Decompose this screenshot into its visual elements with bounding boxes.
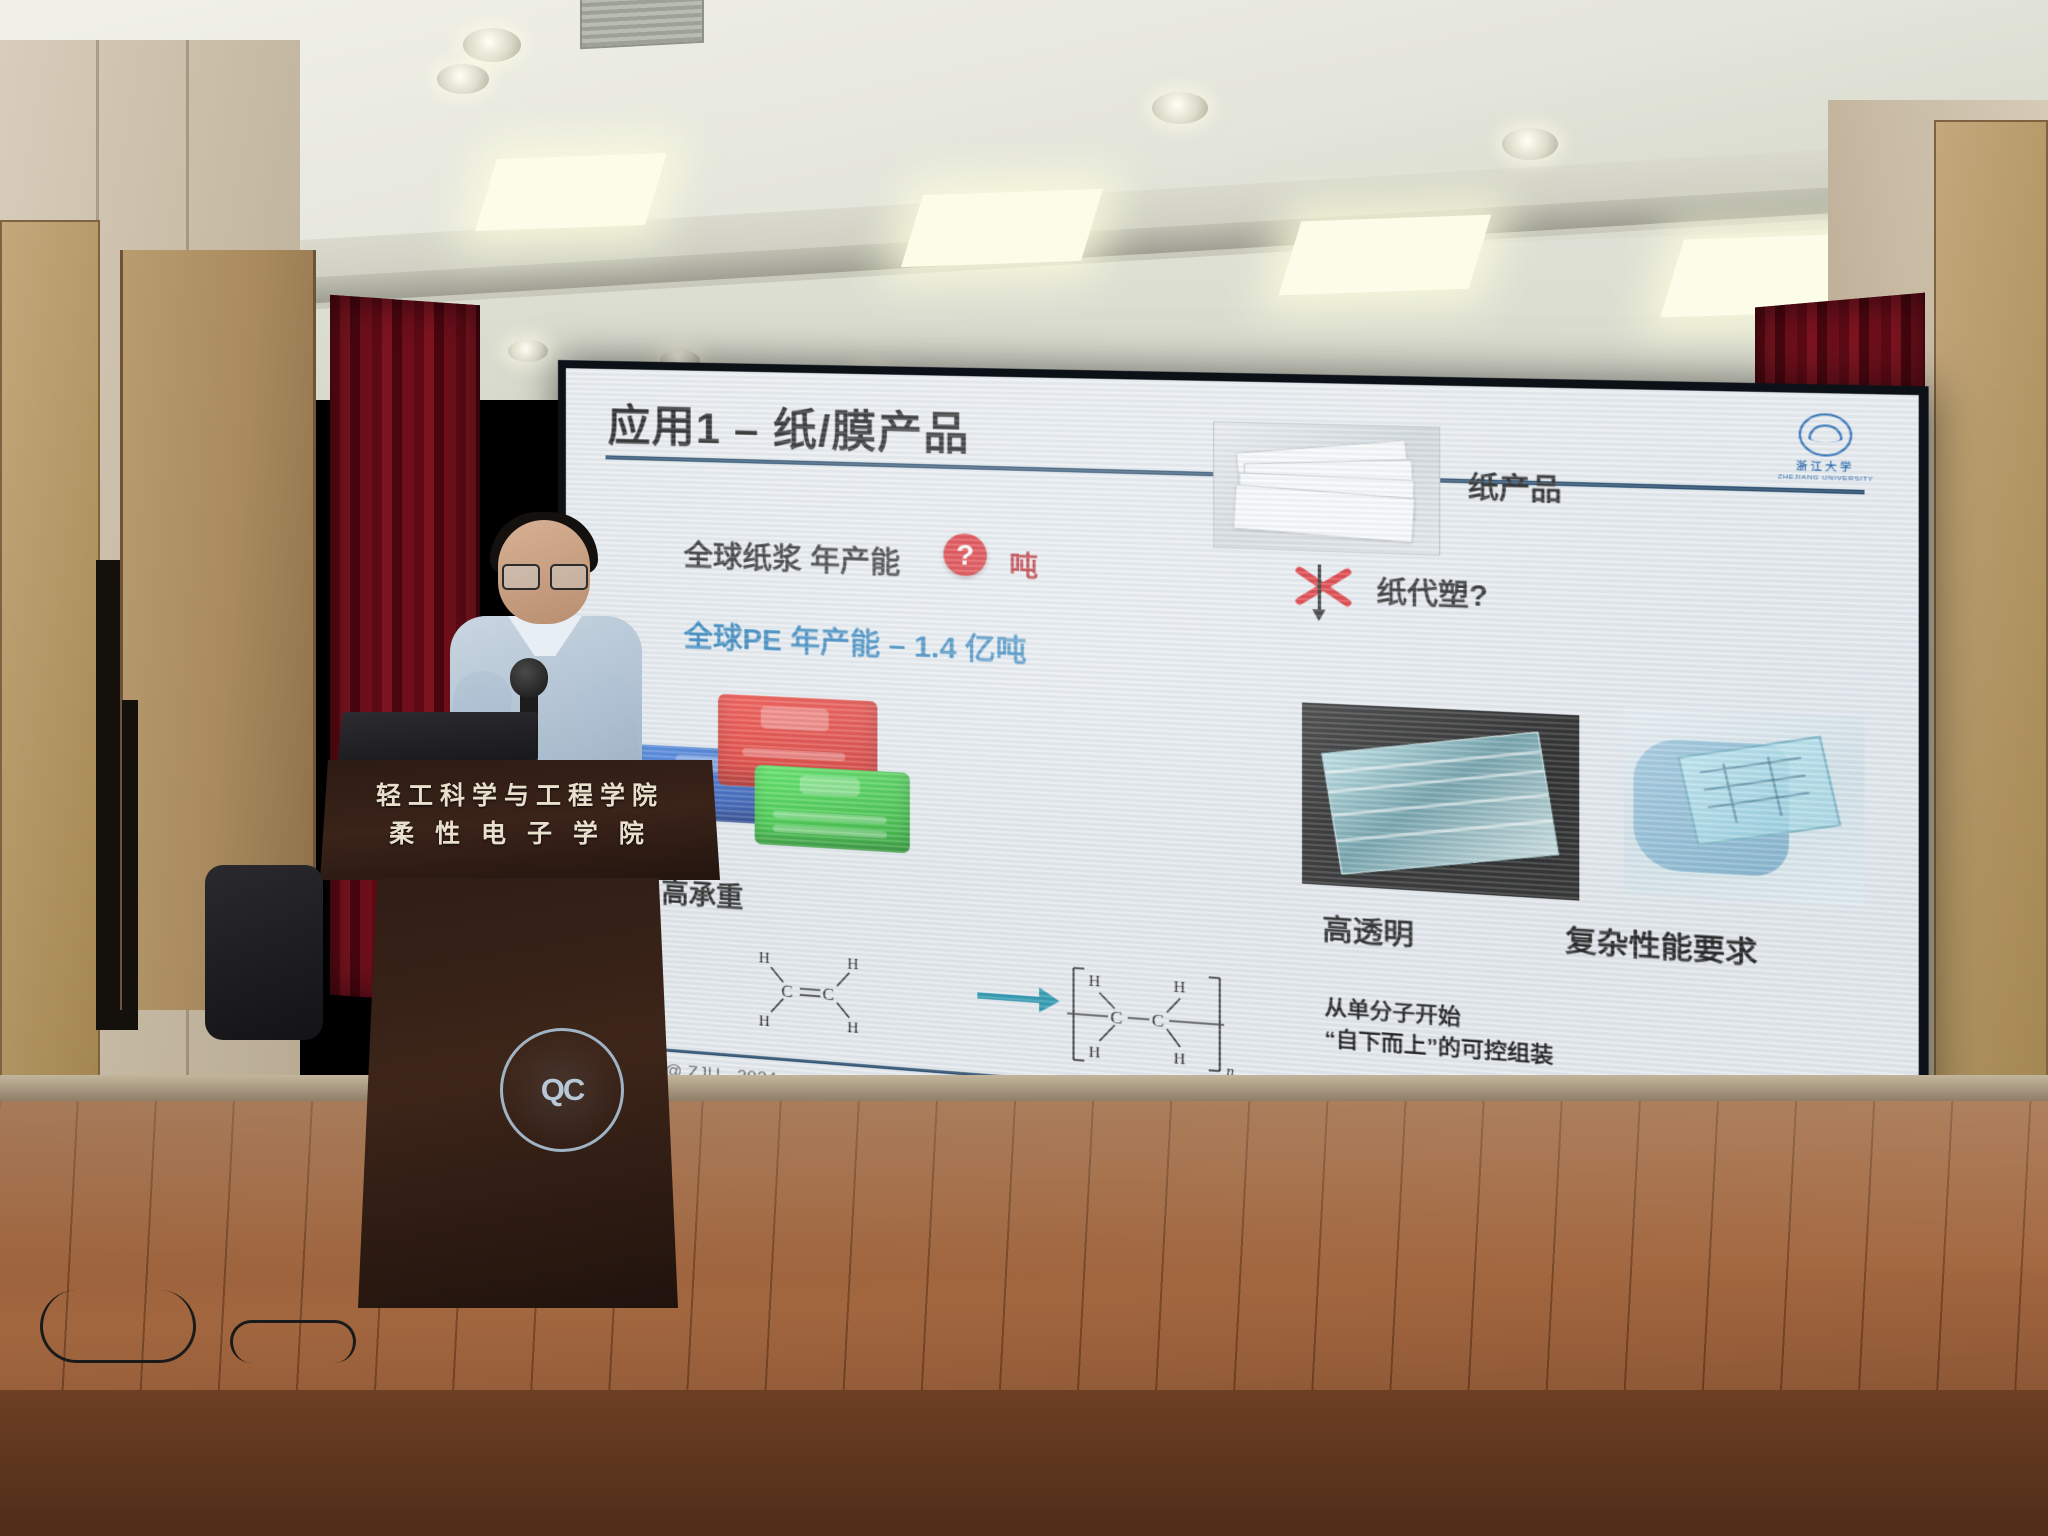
podium-inscription: 轻工科学与工程学院柔 性 电 子 学 院	[320, 778, 720, 853]
floor-reflection	[0, 1075, 2048, 1275]
transparent-film-photo	[1302, 702, 1579, 900]
circuit-trace	[1767, 757, 1783, 817]
logo-english-name: ZHEJIANG UNIVERSITY	[1778, 474, 1874, 483]
glasses-lens	[550, 564, 588, 590]
crate-handle	[800, 775, 860, 797]
circuit-trace	[1700, 757, 1802, 774]
floor-cable	[40, 1290, 196, 1363]
logo-chinese-name: 浙江大学	[1796, 458, 1855, 474]
svg-text:C: C	[1152, 1010, 1164, 1031]
ceiling-downlight-icon	[463, 28, 521, 62]
door-shadow	[122, 700, 138, 1030]
svg-text:H: H	[1174, 979, 1186, 997]
circuit-trace	[1708, 792, 1810, 809]
cross-mark-icon	[1291, 558, 1354, 614]
wood-wall-panel	[0, 220, 100, 1104]
caption-high-transparency: 高透明	[1322, 906, 1414, 954]
paper-replaces-plastic-label: 纸代塑?	[1376, 569, 1488, 615]
green-crate	[755, 765, 910, 854]
crate-vent	[773, 825, 887, 839]
flexible-device-photo	[1624, 706, 1865, 907]
crate-vent	[742, 748, 845, 762]
svg-text:H: H	[759, 950, 770, 967]
pulp-capacity-unit: 吨	[1009, 543, 1038, 585]
polymerization-diagram: H H H H C C	[753, 937, 1309, 1093]
film-stripe	[1337, 819, 1553, 842]
zju-emblem-icon	[1799, 413, 1853, 458]
glasses-lens	[502, 564, 540, 590]
film-stripe	[1326, 750, 1541, 774]
presentation-slide: 应用1 – 纸/膜产品 浙江大学 ZHEJIANG UNIVERSITY 全球纸…	[566, 368, 1919, 1195]
pe-capacity-text: 全球PE 年产能 – 1.4 亿吨	[684, 613, 1027, 671]
svg-text:H: H	[847, 956, 858, 973]
air-vent-icon	[580, 0, 704, 49]
caption-complex-requirements: 复杂性能要求	[1565, 917, 1757, 972]
bottom-up-note: 从单分子开始“自下而上”的可控组装	[1324, 994, 1553, 1073]
laptop	[338, 712, 539, 764]
circuit-trace	[1722, 763, 1738, 822]
crate-handle	[761, 706, 829, 732]
circuit-trace	[1704, 774, 1806, 791]
led-screen: 应用1 – 纸/膜产品 浙江大学 ZHEJIANG UNIVERSITY 全球纸…	[566, 368, 1919, 1195]
note-line1: 从单分子开始	[1324, 997, 1460, 1030]
podium: 轻工科学与工程学院柔 性 电 子 学 院 QC	[320, 760, 720, 1360]
ceiling-panel-light	[475, 153, 667, 231]
note-line2: “自下而上”的可控组装	[1324, 1028, 1553, 1069]
podium-body: QC	[358, 878, 678, 1308]
podium-top: 轻工科学与工程学院柔 性 电 子 学 院	[320, 760, 720, 880]
svg-text:H: H	[1174, 1051, 1186, 1069]
chem-structure-svg: H H H H C C	[753, 937, 1309, 1093]
podium-seal-logo: QC	[500, 1028, 624, 1152]
foreground-floor	[0, 1390, 2048, 1536]
svg-text:H: H	[1089, 1044, 1101, 1062]
doorway-gap	[96, 560, 122, 1030]
university-logo: 浙江大学 ZHEJIANG UNIVERSITY	[1767, 412, 1884, 484]
svg-text:C: C	[1110, 1007, 1122, 1028]
svg-text:H: H	[1089, 973, 1101, 991]
ceiling-panel-light	[1279, 215, 1492, 296]
ceiling-downlight-icon	[508, 340, 548, 362]
ceiling-downlight-icon	[1152, 92, 1208, 124]
screenshot-root: 应用1 – 纸/膜产品 浙江大学 ZHEJIANG UNIVERSITY 全球纸…	[0, 0, 2048, 1536]
paper-product-label: 纸产品	[1468, 464, 1562, 509]
slide-title: 应用1 – 纸/膜产品	[608, 391, 970, 463]
podium-line-1: 轻工科学与工程学院	[376, 782, 664, 810]
film-stripe	[1329, 770, 1544, 794]
microphone-head-icon	[510, 658, 548, 698]
ceiling-downlight-icon	[1502, 128, 1558, 160]
ceiling-panel-light	[901, 189, 1103, 267]
backpack	[205, 865, 323, 1040]
wood-wall-panel-right	[1934, 120, 2048, 1124]
down-arrow-icon	[1318, 565, 1321, 616]
svg-text:C: C	[822, 984, 834, 1004]
podium-line-2: 柔 性 电 子 学 院	[389, 820, 651, 848]
paper-stack-photo	[1213, 421, 1440, 556]
presenter-glasses-icon	[502, 564, 588, 586]
stage-edge	[0, 1075, 2048, 1101]
film-bag	[1321, 732, 1559, 875]
flexible-circuit	[1677, 736, 1841, 846]
svg-text:H: H	[759, 1013, 770, 1030]
film-stripe	[1333, 793, 1548, 817]
ceiling-downlight-icon	[437, 64, 489, 94]
svg-text:H: H	[847, 1020, 858, 1037]
crate-vent	[773, 810, 887, 824]
pulp-capacity-text: 全球纸浆 年产能	[684, 532, 901, 583]
question-badge: ?	[943, 533, 986, 577]
